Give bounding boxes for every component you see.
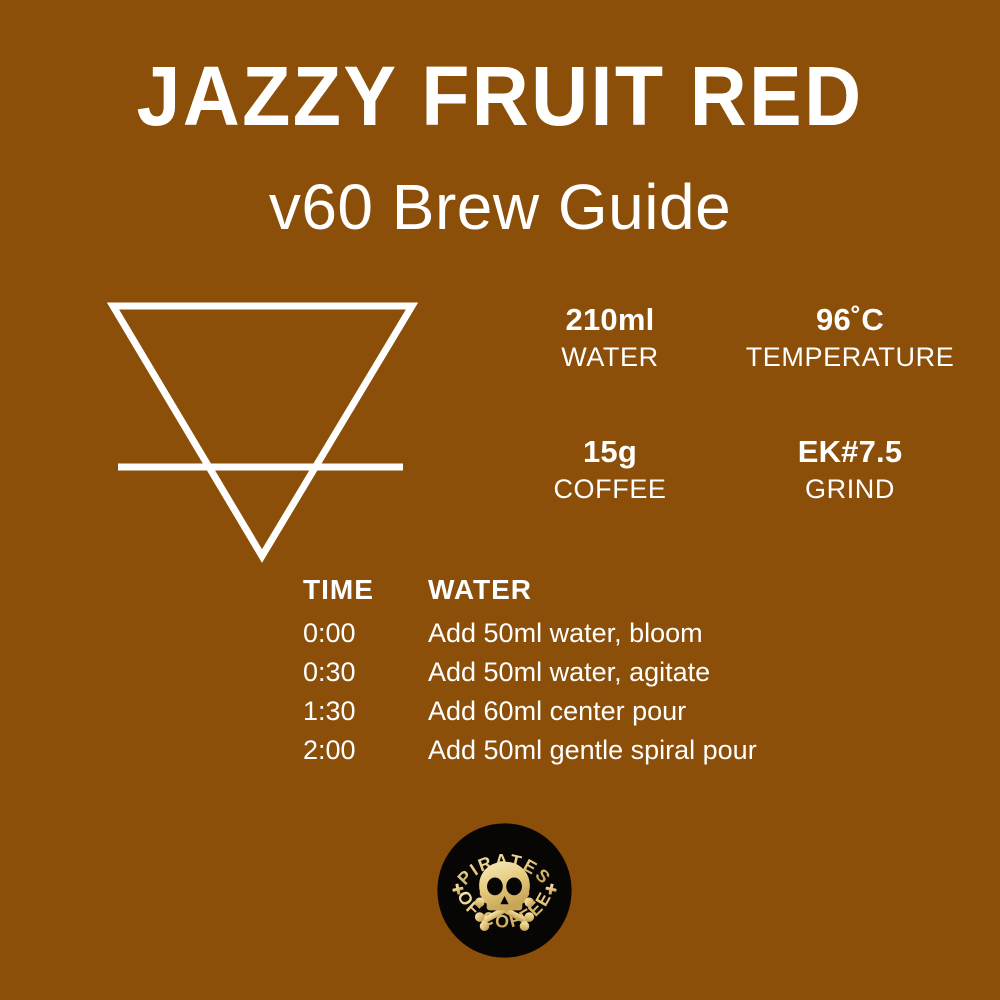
cell-time: 2:00	[303, 731, 428, 770]
stat-value: 96˚C	[730, 300, 970, 340]
stat-value: 210ml	[490, 300, 730, 340]
stat-coffee: 15g COFFEE	[490, 432, 730, 506]
skull-icon	[479, 862, 530, 911]
table-row: 1:30 Add 60ml center pour	[303, 692, 863, 731]
pirates-of-coffee-logo: PIRATES OF COFFEE	[436, 822, 573, 959]
stat-label: GRIND	[730, 472, 970, 506]
column-header-time: TIME	[303, 570, 428, 610]
table-row: 2:00 Add 50ml gentle spiral pour	[303, 731, 863, 770]
v60-dripper-icon	[100, 290, 420, 580]
cell-water: Add 60ml center pour	[428, 692, 863, 731]
stat-value: EK#7.5	[730, 432, 970, 472]
table-row: 0:30 Add 50ml water, agitate	[303, 653, 863, 692]
stat-value: 15g	[490, 432, 730, 472]
column-header-water: WATER	[428, 570, 863, 610]
brew-schedule-table: TIME WATER 0:00 Add 50ml water, bloom 0:…	[303, 570, 863, 770]
brew-stats-grid: 210ml WATER 96˚C TEMPERATURE 15g COFFEE …	[490, 300, 970, 506]
table-header-row: TIME WATER	[303, 570, 863, 610]
stat-label: WATER	[490, 340, 730, 374]
cell-water: Add 50ml gentle spiral pour	[428, 731, 863, 770]
stat-water: 210ml WATER	[490, 300, 730, 374]
cell-time: 1:30	[303, 692, 428, 731]
page-title: JAZZY FRUIT RED	[30, 48, 970, 144]
cell-time: 0:30	[303, 653, 428, 692]
dripper-cone-shape	[113, 306, 412, 556]
stat-label: TEMPERATURE	[730, 340, 970, 374]
stat-temperature: 96˚C TEMPERATURE	[730, 300, 970, 374]
cell-water: Add 50ml water, bloom	[428, 614, 863, 653]
table-body: 0:00 Add 50ml water, bloom 0:30 Add 50ml…	[303, 614, 863, 770]
cell-water: Add 50ml water, agitate	[428, 653, 863, 692]
stat-label: COFFEE	[490, 472, 730, 506]
page-subtitle: v60 Brew Guide	[0, 168, 1000, 246]
stat-grind: EK#7.5 GRIND	[730, 432, 970, 506]
brew-guide-card: JAZZY FRUIT RED v60 Brew Guide 210ml WAT…	[0, 0, 1000, 1000]
table-row: 0:00 Add 50ml water, bloom	[303, 614, 863, 653]
cell-time: 0:00	[303, 614, 428, 653]
